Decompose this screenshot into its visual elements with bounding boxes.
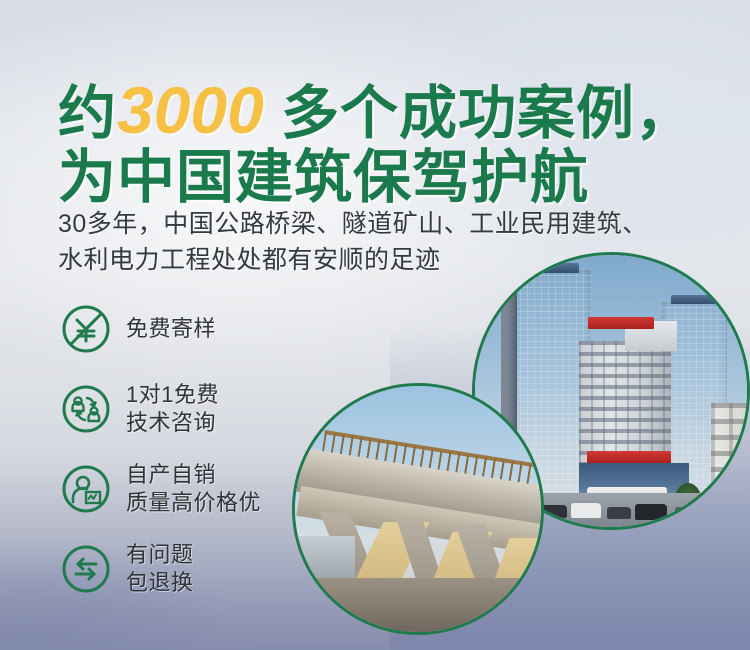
feature-item-consulting: 1对1免费 技术咨询 [60,378,261,440]
car [571,503,601,518]
bridge-photo-image [295,386,541,632]
feature-list: 免费寄样 1对1免费 技术咨询 [60,298,261,618]
feature-label: 1对1免费 技术咨询 [126,381,219,437]
feature-line-1: 有问题 [126,542,194,567]
subtitle-line-2: 水利电力工程处处都有安顺的足迹 [58,242,718,278]
subtitle-line-1: 30多年，中国公路桥梁、隧道矿山、工业民用建筑、 [58,206,718,242]
return-exchange-icon [60,543,112,595]
tower-right-cap [671,295,717,304]
self-production-sales-icon [60,463,112,515]
headline-number: 3000 [117,73,264,147]
headline-suffix: 多个成功案例， [281,81,694,146]
car [541,505,567,518]
feature-line-2: 包退换 [126,569,194,597]
headline-line-1: 约3000 多个成功案例， [58,78,718,146]
construction-ground [295,578,541,632]
feature-item-return-exchange: 有问题 包退换 [60,538,261,600]
subtitle: 30多年，中国公路桥梁、隧道矿山、工业民用建筑、 水利电力工程处处都有安顺的足迹 [58,206,718,278]
car [607,507,631,519]
feature-item-free-sample: 免费寄样 [60,298,261,360]
feature-label: 免费寄样 [126,315,216,343]
promo-banner: 约3000 多个成功案例， 为中国建筑保驾护航 30多年，中国公路桥梁、隧道矿山… [0,0,750,650]
feature-label: 有问题 包退换 [126,541,194,597]
rooftop-sign [588,317,654,329]
facade-sign [587,451,671,463]
headline-line-2: 为中国建筑保驾护航 [58,146,718,210]
feature-line-1: 免费寄样 [126,316,216,341]
one-to-one-consult-icon [60,383,112,435]
yuan-free-icon [60,303,112,355]
headline: 约3000 多个成功案例， 为中国建筑保驾护航 [58,78,718,210]
feature-item-self-production: 自产自销 质量高价格优 [60,458,261,520]
feature-line-1: 1对1免费 [126,382,219,407]
headline-prefix: 约 [58,81,117,146]
car [675,507,697,518]
feature-label: 自产自销 质量高价格优 [126,461,261,517]
feature-line-1: 自产自销 [126,462,216,487]
feature-line-2: 质量高价格优 [126,489,261,517]
bridge-photo [292,383,544,635]
car [635,504,667,520]
feature-line-2: 技术咨询 [126,409,219,437]
